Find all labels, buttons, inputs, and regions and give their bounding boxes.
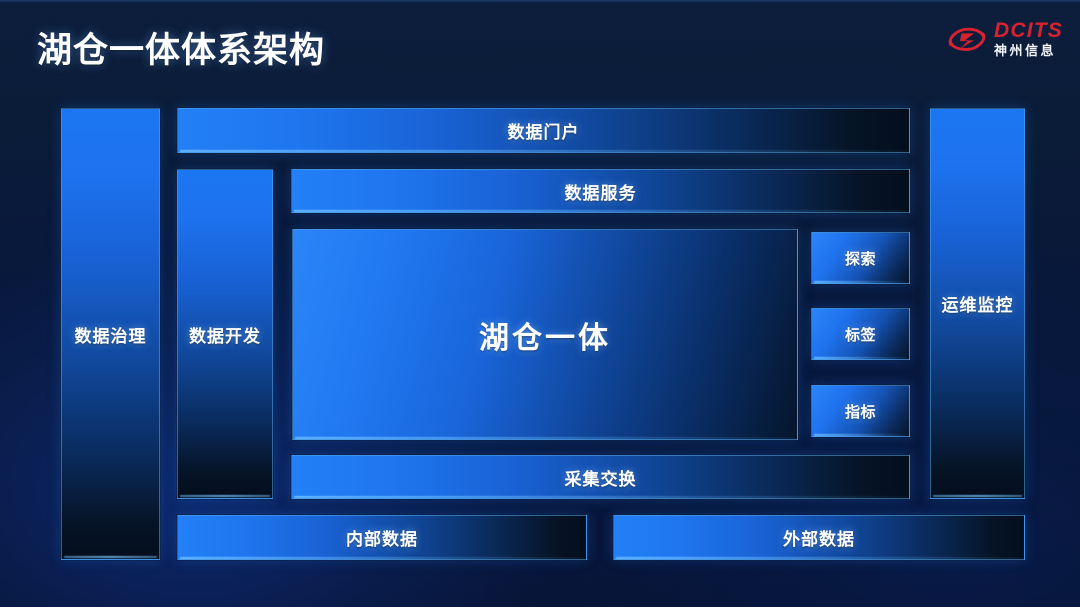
bar-external-data-label: 外部数据 — [783, 525, 855, 550]
bar-internal-data[interactable]: 内部数据 — [177, 515, 587, 560]
bar-data-service-label: 数据服务 — [565, 179, 637, 204]
slide-canvas: 湖仓一体体系架构 DCITS 神州信息 数据治理 数据门户 数据开发 数据服务 — [0, 0, 1080, 607]
column-ops-monitoring[interactable]: 运维监控 — [930, 108, 1025, 499]
chip-metric[interactable]: 指标 — [811, 385, 910, 437]
chip-tag[interactable]: 标签 — [811, 308, 910, 360]
hero-lakehouse-label: 湖仓一体 — [479, 313, 611, 357]
bar-data-portal-label: 数据门户 — [508, 118, 580, 143]
chip-metric-label: 指标 — [845, 401, 876, 422]
bar-collect-exchange-label: 采集交换 — [565, 465, 637, 490]
chip-tag-label: 标签 — [845, 324, 876, 345]
chip-explore[interactable]: 探索 — [811, 232, 910, 284]
logo-english: DCITS — [994, 20, 1063, 41]
page-title: 湖仓一体体系架构 — [37, 22, 325, 73]
logo-chinese: 神州信息 — [994, 44, 1063, 57]
brand-logo: DCITS 神州信息 — [946, 20, 1063, 57]
chip-explore-label: 探索 — [845, 248, 876, 269]
column-data-governance[interactable]: 数据治理 — [61, 108, 160, 560]
bar-data-portal[interactable]: 数据门户 — [177, 108, 910, 153]
column-data-governance-label: 数据治理 — [75, 322, 147, 347]
bar-external-data[interactable]: 外部数据 — [613, 515, 1025, 560]
bar-internal-data-label: 内部数据 — [346, 525, 418, 550]
bar-data-service[interactable]: 数据服务 — [291, 169, 910, 213]
hero-lakehouse[interactable]: 湖仓一体 — [292, 229, 798, 440]
column-data-development[interactable]: 数据开发 — [177, 169, 273, 499]
bar-collect-exchange[interactable]: 采集交换 — [291, 455, 910, 499]
swirl-logo-icon — [946, 22, 988, 56]
logo-wordmark: DCITS 神州信息 — [994, 20, 1063, 57]
column-data-development-label: 数据开发 — [189, 322, 261, 347]
column-ops-monitoring-label: 运维监控 — [942, 291, 1014, 316]
